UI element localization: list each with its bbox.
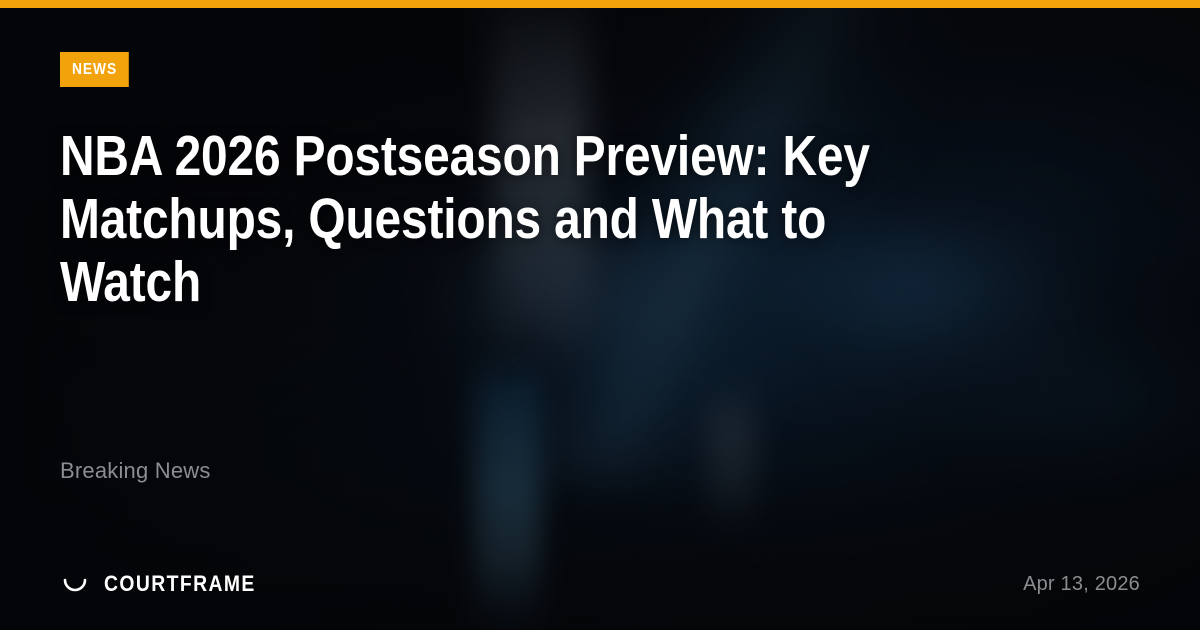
card-content: NEWS NBA 2026 Postseason Preview: Key Ma… — [0, 0, 1200, 630]
page-title: NBA 2026 Postseason Preview: Key Matchup… — [60, 125, 917, 314]
smile-arc-icon — [60, 569, 90, 599]
card-footer: COURTFRAME Apr 13, 2026 — [60, 568, 1140, 600]
category-badge-news[interactable]: NEWS — [60, 52, 129, 87]
publish-date: Apr 13, 2026 — [1023, 573, 1140, 596]
brand-name-label: COURTFRAME — [104, 573, 256, 595]
top-accent-bar — [0, 0, 1200, 8]
news-share-card: NEWS NBA 2026 Postseason Preview: Key Ma… — [0, 0, 1200, 630]
brand-lockup[interactable]: COURTFRAME — [60, 569, 276, 599]
